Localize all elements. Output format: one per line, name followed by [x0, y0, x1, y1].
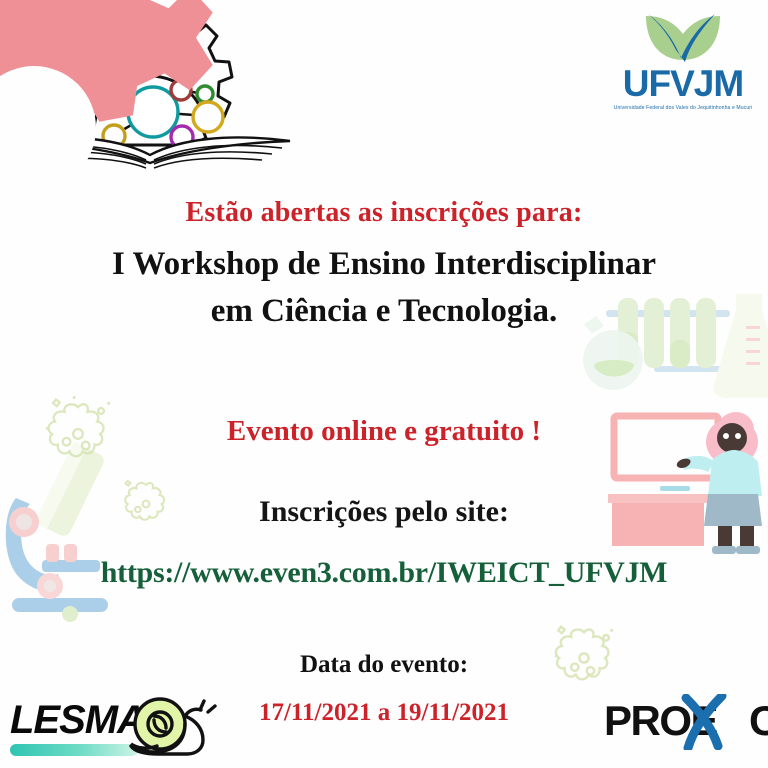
- ufvjm-leaf-icon: [612, 12, 754, 64]
- ufvjm-logo: UFVJM Universidade Federal dos Vales do …: [612, 12, 754, 132]
- proexc-logo: PROEC: [604, 694, 754, 752]
- event-title-line1: I Workshop de Ensino Interdisciplinar: [0, 245, 768, 284]
- proexc-x-icon: [678, 694, 730, 750]
- event-title-line2: em Ciência e Tecnologia.: [0, 292, 768, 331]
- date-label: Data do evento:: [0, 650, 768, 680]
- kicker-text: Estão abertas as inscrições para:: [0, 196, 768, 229]
- ufvjm-subtitle: Universidade Federal dos Vales do Jequit…: [612, 105, 754, 111]
- ufvjm-wordmark: UFVJM: [612, 65, 754, 102]
- registration-url[interactable]: https://www.even3.com.br/IWEICT_UFVJM: [0, 555, 768, 590]
- snail-icon: [124, 694, 220, 756]
- lesma-logo: LESMA: [6, 692, 221, 758]
- event-poster: UFVJM Universidade Federal dos Vales do …: [0, 0, 768, 768]
- free-online-notice: Evento online e gratuito !: [0, 414, 768, 448]
- registration-label: Inscrições pelo site:: [0, 494, 768, 529]
- lesma-gradient-bar: [10, 744, 138, 756]
